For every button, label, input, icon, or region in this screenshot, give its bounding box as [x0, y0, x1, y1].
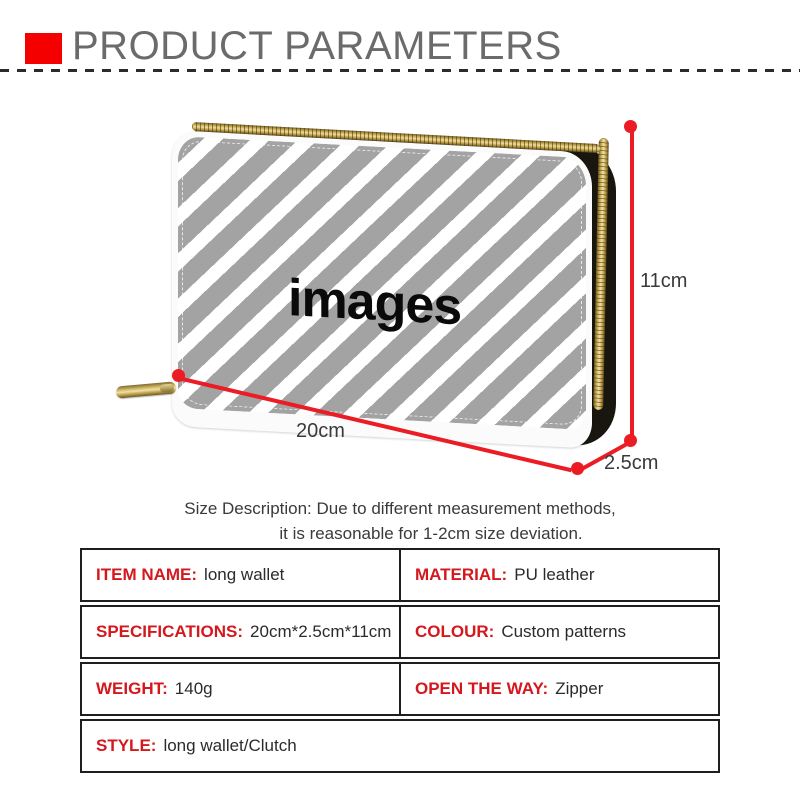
dimension-label-depth: 2.5cm [604, 452, 658, 475]
product-illustration: images 11cm 20cm 2.5cm [0, 80, 800, 480]
wallet-zipper-pull [116, 381, 177, 398]
dimension-label-width: 20cm [296, 420, 345, 443]
param-key: STYLE: [96, 736, 156, 756]
size-description: Size Description: Due to different measu… [0, 496, 800, 546]
dimension-line-height [630, 127, 634, 441]
header-dashed-divider [0, 69, 800, 72]
dimension-endpoint-width-left [172, 369, 185, 382]
size-description-line-2: it is reasonable for 1-2cm size deviatio… [0, 521, 800, 546]
table-cell-colour: COLOUR: Custom patterns [399, 607, 718, 657]
table-cell-weight: WEIGHT: 140g [82, 664, 399, 714]
table-cell-style: STYLE: long wallet/Clutch [82, 721, 718, 771]
table-cell-material: MATERIAL: PU leather [399, 550, 718, 600]
wallet-product-image: images [172, 122, 620, 432]
dimension-endpoint-height-top [624, 120, 637, 133]
param-key: MATERIAL: [415, 565, 507, 585]
parameter-table: ITEM NAME: long wallet MATERIAL: PU leat… [80, 548, 720, 776]
page-title: PRODUCT PARAMETERS [72, 22, 562, 70]
table-row: STYLE: long wallet/Clutch [80, 719, 720, 773]
param-key: WEIGHT: [96, 679, 168, 699]
param-key: ITEM NAME: [96, 565, 197, 585]
header-marker-square [25, 33, 62, 64]
size-description-line-1: Size Description: Due to different measu… [0, 496, 800, 521]
param-value: PU leather [514, 565, 594, 585]
param-value: Zipper [555, 679, 603, 699]
table-row: WEIGHT: 140g OPEN THE WAY: Zipper [80, 662, 720, 716]
param-key: COLOUR: [415, 622, 494, 642]
param-key: SPECIFICATIONS: [96, 622, 243, 642]
param-value: 20cm*2.5cm*11cm [250, 622, 391, 642]
param-key: OPEN THE WAY: [415, 679, 548, 699]
table-cell-open-the-way: OPEN THE WAY: Zipper [399, 664, 718, 714]
table-row: ITEM NAME: long wallet MATERIAL: PU leat… [80, 548, 720, 602]
table-row: SPECIFICATIONS: 20cm*2.5cm*11cm COLOUR: … [80, 605, 720, 659]
table-cell-specifications: SPECIFICATIONS: 20cm*2.5cm*11cm [82, 607, 399, 657]
page-header: PRODUCT PARAMETERS [0, 0, 800, 72]
watermark-text: images [288, 272, 461, 333]
param-value: long wallet/Clutch [163, 736, 296, 756]
table-cell-item-name: ITEM NAME: long wallet [82, 550, 399, 600]
param-value: long wallet [204, 565, 284, 585]
param-value: 140g [175, 679, 213, 699]
dimension-label-height: 11cm [640, 270, 687, 293]
param-value: Custom patterns [501, 622, 626, 642]
